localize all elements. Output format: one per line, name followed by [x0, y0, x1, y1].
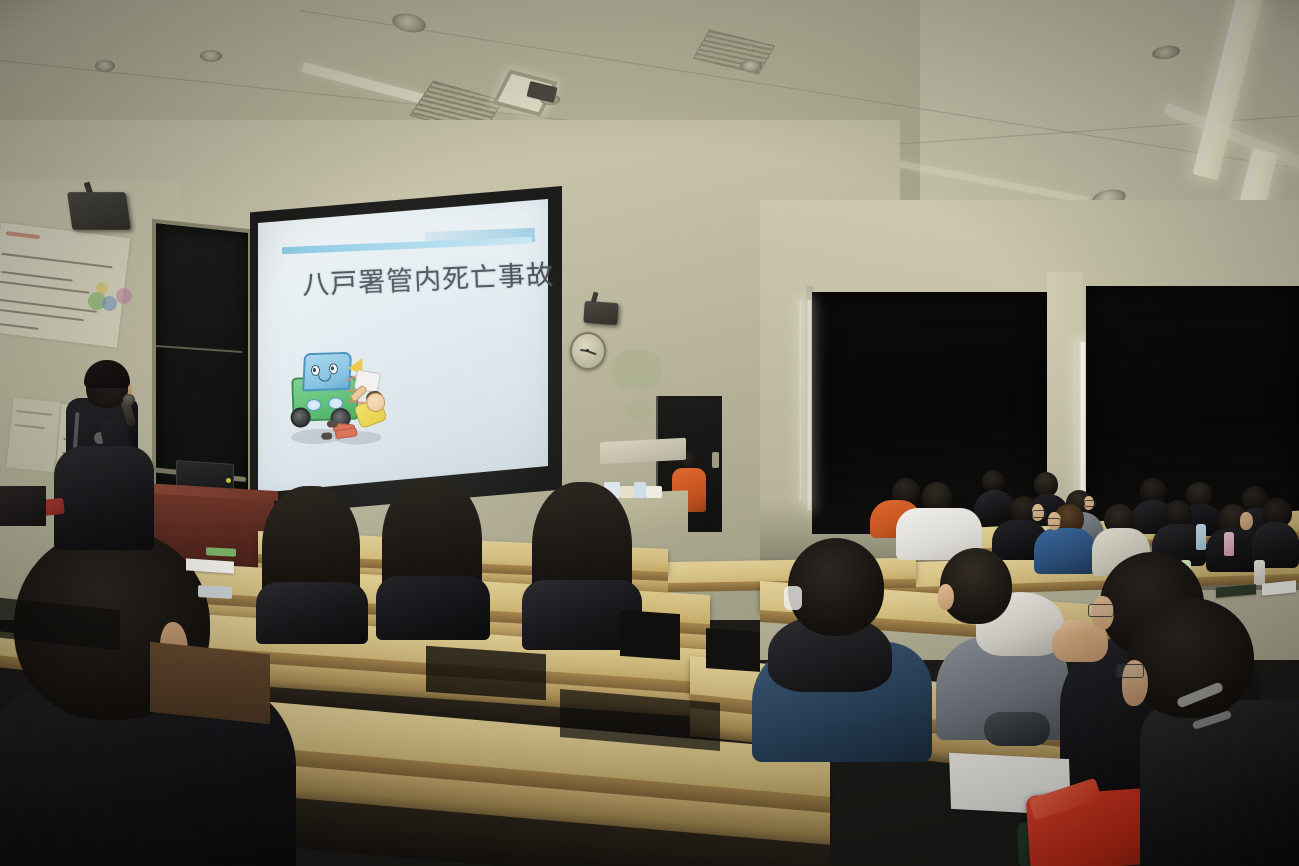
clipart-shoe [321, 432, 332, 439]
window-light-gap [798, 300, 803, 500]
student-navy-hoodie-head [788, 538, 884, 636]
wall-poster-lower [6, 398, 61, 473]
microphone-head [123, 394, 135, 405]
supply-item [620, 486, 634, 498]
poster-decoration [96, 282, 108, 294]
folded-garment [984, 712, 1050, 746]
laptop-indicator-light [226, 478, 231, 483]
audience-glasses [1084, 500, 1096, 507]
water-bottle[interactable] [1254, 560, 1265, 585]
traffic-accident-clipart [284, 344, 404, 452]
chair-shadow [706, 628, 760, 672]
wall-poster-upper [0, 222, 130, 347]
projection-screen[interactable]: 八戸署管内死亡事故 [250, 186, 562, 516]
clasped-hand [1060, 620, 1094, 640]
poster-decoration [102, 296, 117, 311]
wall-stain [612, 350, 662, 390]
water-bottle[interactable] [1224, 532, 1234, 556]
ceiling-recessed-light [95, 60, 115, 72]
supply-shelf [600, 438, 686, 465]
wall-speaker-center [583, 301, 618, 325]
audience-glasses [1032, 510, 1046, 518]
ceiling-recessed-light [740, 60, 762, 72]
window-light-gap [806, 300, 812, 510]
audience-glasses [1046, 518, 1061, 526]
audience-torso [1034, 528, 1096, 574]
student-long-hair-1-torso [256, 582, 368, 644]
face-mask [784, 586, 802, 610]
supply-item [646, 486, 662, 498]
clock-center-pin [586, 349, 589, 352]
student-glasses [1088, 604, 1114, 617]
audience-face [1240, 512, 1253, 530]
wall-speaker-left [67, 192, 131, 230]
clipart-shoe [327, 420, 338, 427]
lecture-hall-photo: 八戸署管内死亡事故 [0, 0, 1299, 866]
clipart-wheel [290, 407, 311, 428]
poster-decoration [116, 288, 132, 304]
wall-stain [626, 402, 652, 422]
clipart-car-pupil [331, 366, 334, 370]
chair-shadow [426, 646, 546, 700]
wall-clock [570, 332, 606, 370]
equipment-dark [0, 486, 46, 526]
door-handle[interactable] [712, 452, 719, 468]
item-on-desk [198, 585, 232, 599]
water-bottle[interactable] [1196, 524, 1206, 550]
student-foreground-right-torso [1140, 700, 1299, 866]
floor [150, 642, 270, 725]
student-grey-hoodie-face [938, 584, 954, 610]
supply-item [634, 482, 646, 498]
student-long-hair-2-torso [376, 576, 490, 640]
clipart-car-cabin [302, 352, 352, 392]
student-near-podium-torso [54, 446, 154, 550]
ceiling-recessed-light [200, 50, 222, 62]
chair-shadow [620, 610, 680, 660]
green-item-on-desk [206, 547, 236, 557]
clipart-car-pupil [313, 368, 316, 372]
student-glasses [1116, 664, 1144, 678]
